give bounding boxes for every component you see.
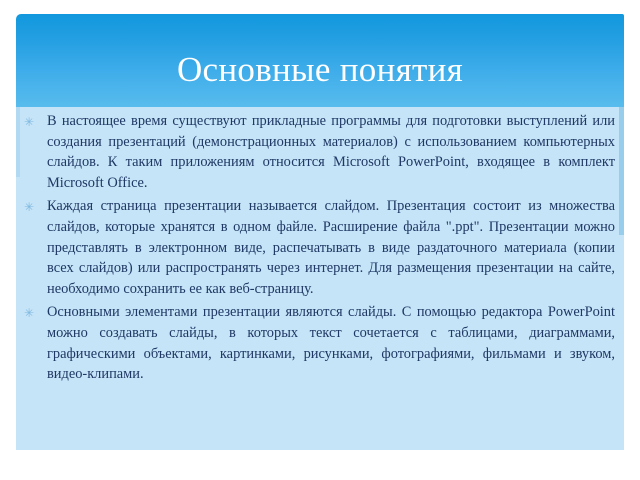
bullet-item: ✳ В настоящее время существуют прикладны… [21, 111, 615, 193]
slide-bullet-list: ✳ В настоящее время существуют прикладны… [21, 111, 615, 385]
panel-right-accent-edge [619, 107, 624, 235]
bullet-text: Каждая страница презентации называется с… [47, 196, 615, 299]
asterisk-bullet-icon: ✳ [24, 303, 34, 324]
bullet-item: ✳ Основными элементами презентации являю… [21, 302, 615, 384]
asterisk-bullet-icon: ✳ [24, 112, 34, 133]
presentation-slide: Основные понятия ✳ В настоящее время сущ… [0, 0, 640, 480]
bullet-text: Основными элементами презентации являютс… [47, 302, 615, 384]
slide-body-panel: ✳ В настоящее время существуют прикладны… [16, 107, 624, 450]
slide-title-band: Основные понятия [16, 14, 624, 107]
bullet-item: ✳ Каждая страница презентации называется… [21, 196, 615, 299]
asterisk-bullet-icon: ✳ [24, 197, 34, 218]
panel-left-accent-edge [16, 107, 20, 177]
slide-title: Основные понятия [16, 50, 624, 90]
bullet-text: В настоящее время существуют прикладные … [47, 111, 615, 193]
